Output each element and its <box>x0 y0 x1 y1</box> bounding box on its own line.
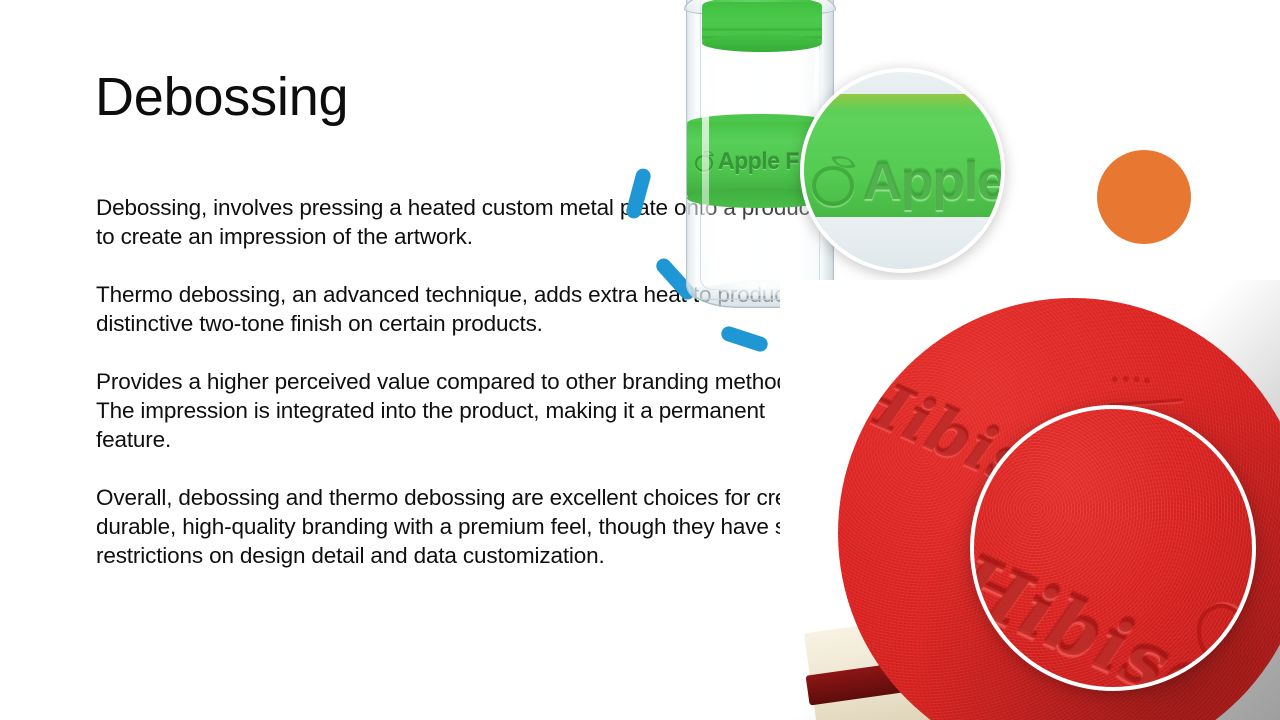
magnified-debossed-logo: Apple F <box>810 150 1005 212</box>
magnified-logo-text: Apple F <box>863 150 1005 212</box>
tumbler-lid-ridge-1 <box>702 28 822 31</box>
apple-icon-magnified <box>810 154 858 208</box>
magnifier-band-sheen <box>800 94 1005 112</box>
paragraph-4: Overall, debossing and thermo debossing … <box>96 483 836 571</box>
paragraph-3: Provides a higher perceived value compar… <box>96 367 836 455</box>
tumbler-highlight-left <box>702 48 709 258</box>
page-title: Debossing <box>95 68 348 127</box>
orange-circle-decoration <box>1097 150 1191 244</box>
notebook-magnifier-inset: Hibiscus <box>970 405 1256 691</box>
tumbler-logo-text: Apple F <box>718 148 799 175</box>
slide-canvas: Debossing Debossing, involves pressing a… <box>0 0 1280 720</box>
tumbler-magnifier-inset: Apple F <box>800 68 1005 273</box>
magnifier-glass-bottom <box>800 217 1005 273</box>
tumbler-lid-base <box>702 34 822 52</box>
